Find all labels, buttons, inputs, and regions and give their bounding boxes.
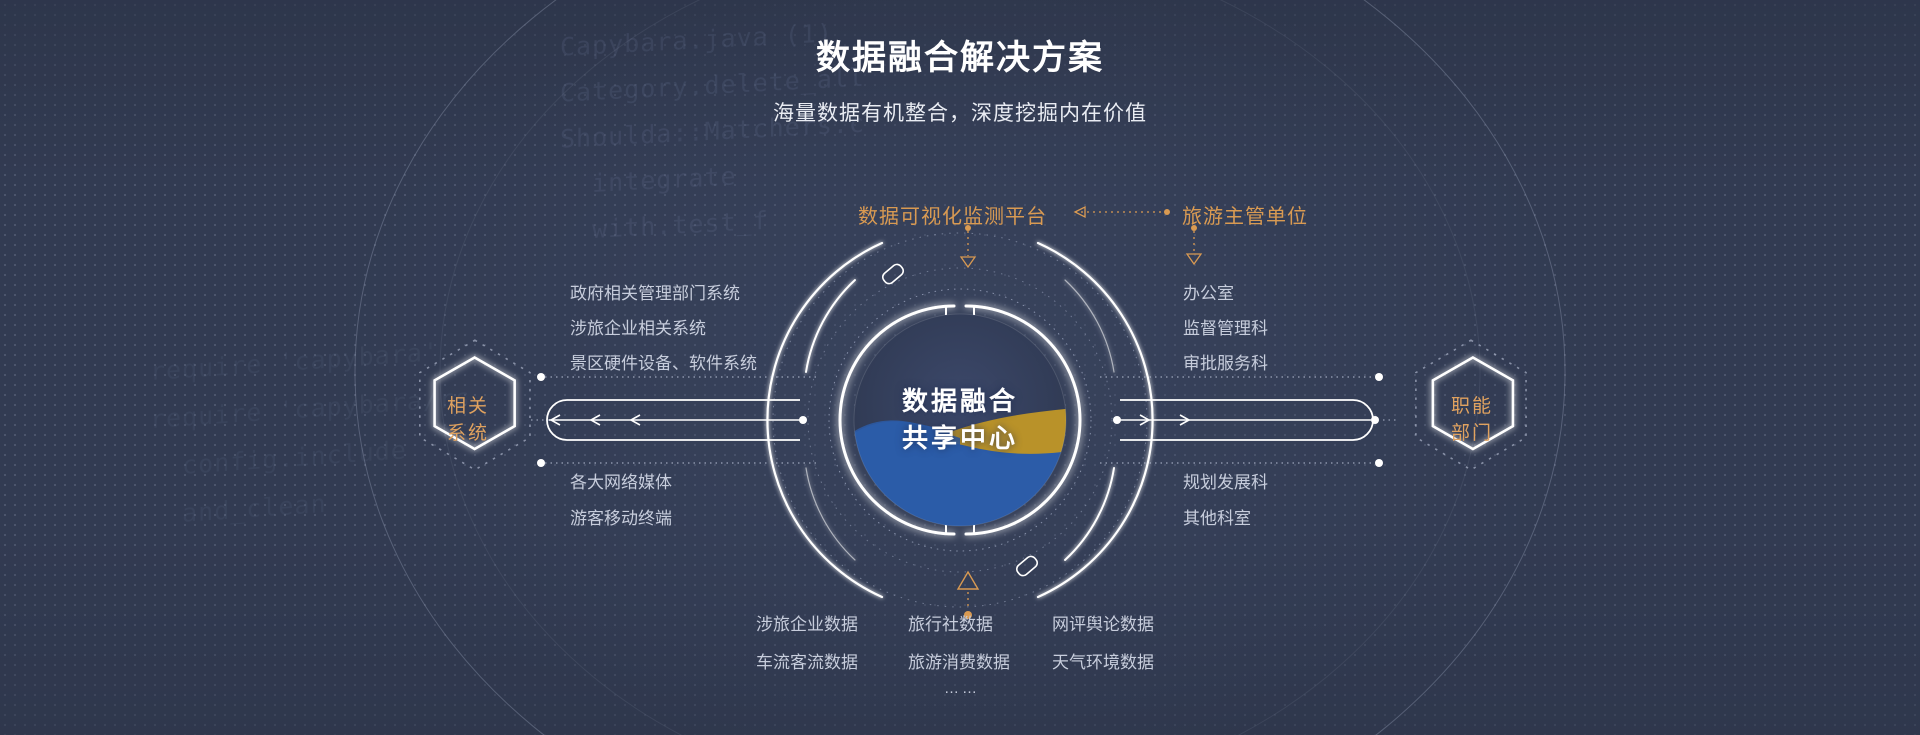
right-item-0[interactable]: 办公室 (1183, 279, 1234, 304)
bottom-item-r1c1[interactable]: 旅行社数据 (908, 610, 993, 635)
right-node-label: 职能 部门 (1412, 393, 1532, 447)
center-hub-line1: 数据融合 (902, 383, 1018, 420)
left-item-0[interactable]: 政府相关管理部门系统 (570, 279, 740, 304)
bottom-item-r2c0[interactable]: 车流客流数据 (756, 648, 858, 673)
left-node-label: 相关 系统 (408, 393, 528, 447)
bottom-item-r1c0[interactable]: 涉旅企业数据 (756, 610, 858, 635)
center-hub-line2: 共享中心 (902, 420, 1018, 457)
top-right-vertical-connector (1187, 225, 1201, 264)
right-pipe-connector (1100, 373, 1399, 467)
left-item-2[interactable]: 景区硬件设备、软件系统 (570, 349, 757, 374)
left-node-label-line1: 相关 (408, 393, 528, 420)
bottom-ellipsis: …… (944, 680, 980, 697)
bottom-item-r1c2[interactable]: 网评舆论数据 (1052, 610, 1154, 635)
right-lower-item-0[interactable]: 规划发展科 (1183, 468, 1268, 493)
right-item-1[interactable]: 监督管理科 (1183, 314, 1268, 339)
left-lower-item-0[interactable]: 各大网络媒体 (570, 468, 672, 493)
left-node-label-line2: 系统 (408, 420, 528, 447)
center-hub: 数据融合 共享中心 (840, 300, 1080, 540)
left-item-1[interactable]: 涉旅企业相关系统 (570, 314, 706, 339)
label-tourism-authority[interactable]: 旅游主管单位 (1182, 200, 1308, 229)
bottom-item-r2c2[interactable]: 天气环境数据 (1052, 648, 1154, 673)
left-lower-item-1[interactable]: 游客移动终端 (570, 504, 672, 529)
right-lower-item-1[interactable]: 其他科室 (1183, 504, 1251, 529)
top-left-vertical-connector (961, 225, 975, 267)
label-visualization-platform[interactable]: 数据可视化监测平台 (858, 200, 1047, 229)
bottom-item-r2c1[interactable]: 旅游消费数据 (908, 648, 1010, 673)
top-horizontal-connector (1075, 207, 1170, 217)
right-node-label-line1: 职能 (1412, 393, 1532, 420)
right-item-2[interactable]: 审批服务科 (1183, 349, 1268, 374)
right-node-label-line2: 部门 (1412, 420, 1532, 447)
left-pipe-connector (531, 373, 820, 467)
